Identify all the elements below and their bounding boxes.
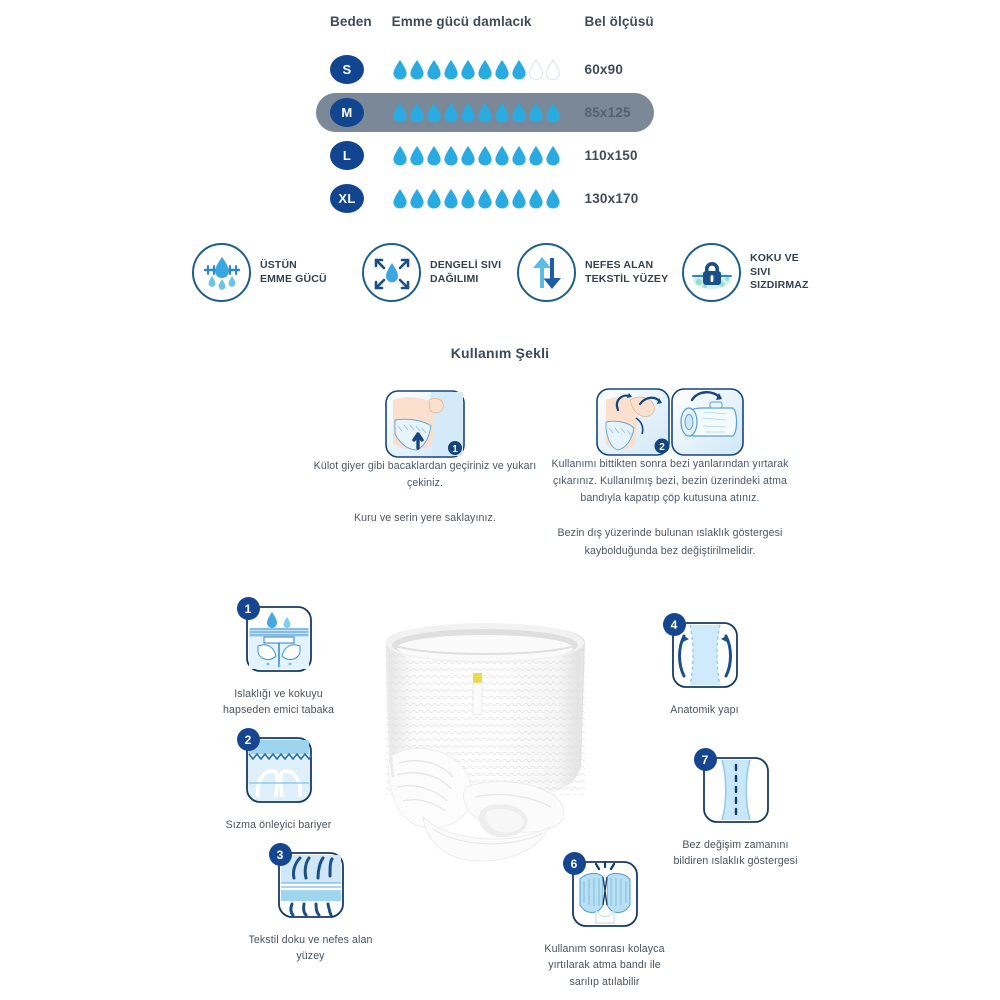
droplet-filled-icon	[409, 188, 425, 209]
droplet-empty-icon	[528, 59, 544, 80]
waist-measurement: 130x170	[585, 191, 670, 206]
usage-step-1-text: Külot giyer gibi bacaklardan geçiriniz v…	[300, 458, 550, 492]
droplet-filled-icon	[426, 59, 442, 80]
droplet-filled-icon	[477, 188, 493, 209]
numbered-feature-4: 4Anatomik yapı	[622, 622, 787, 718]
absorbency-droplets	[392, 59, 581, 80]
droplet-filled-icon	[409, 59, 425, 80]
size-badge-wrap: S	[330, 55, 388, 84]
size-table-body: S60x90M85x125L110x150XL130x170	[330, 48, 670, 220]
size-badge: XL	[330, 184, 364, 213]
leak-barrier-tile: 2	[196, 737, 361, 808]
size-row-m[interactable]: M85x125	[330, 91, 670, 134]
droplet-filled-icon	[460, 102, 476, 123]
feature-number-badge: 3	[269, 843, 292, 866]
droplet-filled-icon	[460, 188, 476, 209]
feature-number-badge: 2	[237, 728, 260, 751]
textile-surface-tile: 3	[228, 852, 393, 923]
size-badge: L	[330, 141, 364, 170]
feature-label: NEFES ALAN TEKSTİL YÜZEY	[585, 259, 668, 286]
absorbency-droplets	[392, 188, 581, 209]
feature-number-badge: 7	[694, 748, 717, 771]
droplet-filled-icon	[477, 145, 493, 166]
feature-label: ÜSTÜN EMME GÜCÜ	[260, 259, 327, 286]
droplet-filled-icon	[545, 102, 561, 123]
numbered-feature-2: 2Sızma önleyici bariyer	[196, 737, 361, 833]
absorbent-core-tile: 1	[196, 606, 361, 677]
absorbency-droplets	[392, 145, 581, 166]
absorbency-droplets	[392, 102, 581, 123]
droplet-empty-icon	[545, 59, 561, 80]
absorbency-drop-icon	[192, 243, 251, 302]
usage-step-2-text-secondary: Bezin dış yüzerinde bulunan ıslaklık gös…	[525, 525, 815, 559]
odor-lock-icon	[682, 243, 741, 302]
droplet-filled-icon	[426, 102, 442, 123]
feature-2: DENGELİ SIVI DAĞILIMI	[362, 243, 517, 302]
numbered-feature-7: 7Bez değişim zamanını bildiren ıslaklık …	[648, 757, 823, 870]
size-row-xl[interactable]: XL130x170	[330, 177, 670, 220]
usage-step-2-text: Kullanımı bittikten sonra bezi yanlarınd…	[525, 456, 815, 507]
droplet-filled-icon	[545, 188, 561, 209]
anatomic-shape-tile: 4	[622, 622, 787, 693]
droplet-filled-icon	[392, 59, 408, 80]
droplet-filled-icon	[426, 188, 442, 209]
product-infographic: Beden Emme gücü damlacık Bel ölçüsü S60x…	[0, 0, 1000, 1000]
droplet-filled-icon	[494, 145, 510, 166]
waist-measurement: 110x150	[585, 148, 670, 163]
feature-badge-row: ÜSTÜN EMME GÜCÜDENGELİ SIVI DAĞILIMINEFE…	[192, 243, 817, 302]
feature-number-badge: 4	[663, 613, 686, 636]
droplet-filled-icon	[443, 102, 459, 123]
usage-section-title: Kullanım Şekli	[0, 345, 1000, 361]
feature-number-badge: 6	[563, 852, 586, 875]
size-table-header: Beden Emme gücü damlacık Bel ölçüsü	[330, 14, 670, 48]
feature-3: NEFES ALAN TEKSTİL YÜZEY	[517, 243, 682, 302]
feature-label: KOKU VE SIVI SIZDIRMAZ	[750, 252, 817, 292]
droplet-filled-icon	[477, 102, 493, 123]
size-table: Beden Emme gücü damlacık Bel ölçüsü S60x…	[330, 14, 670, 220]
feature-4: KOKU VE SIVI SIZDIRMAZ	[682, 243, 817, 302]
droplet-filled-icon	[528, 145, 544, 166]
balanced-distribution-icon	[362, 243, 421, 302]
numbered-feature-3: 3Tekstil doku ve nefes alan yüzey	[228, 852, 393, 965]
numbered-feature-1: 1Islaklığı ve kokuyu hapseden emici taba…	[196, 606, 361, 719]
numbered-feature-label: Sızma önleyici bariyer	[196, 817, 361, 833]
product-image	[363, 617, 608, 867]
waist-measurement: 85x125	[585, 105, 670, 120]
tear-and-roll-illustration: 2	[525, 388, 815, 456]
column-header-absorbency: Emme gücü damlacık	[392, 14, 581, 29]
droplet-filled-icon	[443, 59, 459, 80]
droplet-filled-icon	[460, 59, 476, 80]
droplet-filled-icon	[494, 59, 510, 80]
usage-step-2: 2 Kullanımı bittikten sonra bezi yanları…	[525, 388, 815, 560]
numbered-feature-6: 6Kullanım sonrası kolayca yırtılarak atm…	[512, 861, 697, 990]
tear-and-roll-illustration-svg: 2	[596, 388, 744, 456]
pull-up-illustration-svg: 1	[385, 390, 465, 458]
numbered-feature-label: Tekstil doku ve nefes alan yüzey	[228, 932, 393, 965]
droplet-filled-icon	[545, 145, 561, 166]
droplet-filled-icon	[511, 102, 527, 123]
size-badge-wrap: L	[330, 141, 388, 170]
size-row-s[interactable]: S60x90	[330, 48, 670, 91]
feature-label: DENGELİ SIVI DAĞILIMI	[430, 259, 501, 286]
droplet-filled-icon	[409, 102, 425, 123]
droplet-filled-icon	[392, 102, 408, 123]
droplet-filled-icon	[494, 102, 510, 123]
column-header-size: Beden	[330, 14, 388, 29]
droplet-filled-icon	[392, 188, 408, 209]
droplet-filled-icon	[443, 145, 459, 166]
wetness-indicator-tile: 7	[648, 757, 823, 828]
droplet-filled-icon	[511, 188, 527, 209]
feature-1: ÜSTÜN EMME GÜCÜ	[192, 243, 362, 302]
pull-up-illustration: 1	[300, 390, 550, 458]
droplet-filled-icon	[511, 145, 527, 166]
step-number-1: 1	[452, 444, 458, 455]
tear-away-tile: 6	[512, 861, 697, 932]
droplet-filled-icon	[494, 188, 510, 209]
usage-step-1-text-secondary: Kuru ve serin yere saklayınız.	[300, 510, 550, 527]
usage-step-1: 1 Külot giyer gibi bacaklardan geçiriniz…	[300, 390, 550, 527]
feature-number-badge: 1	[237, 597, 260, 620]
column-header-waist: Bel ölçüsü	[585, 14, 670, 29]
droplet-filled-icon	[460, 145, 476, 166]
size-badge: M	[330, 98, 364, 127]
droplet-filled-icon	[528, 102, 544, 123]
droplet-filled-icon	[392, 145, 408, 166]
breathable-arrows-icon	[517, 243, 576, 302]
waist-measurement: 60x90	[585, 62, 670, 77]
size-badge-wrap: XL	[330, 184, 388, 213]
droplet-filled-icon	[477, 59, 493, 80]
numbered-feature-label: Kullanım sonrası kolayca yırtılarak atma…	[512, 941, 697, 990]
droplet-filled-icon	[511, 59, 527, 80]
droplet-filled-icon	[528, 188, 544, 209]
droplet-filled-icon	[443, 188, 459, 209]
size-badge: S	[330, 55, 364, 84]
step-number-2: 2	[659, 442, 665, 453]
droplet-filled-icon	[426, 145, 442, 166]
numbered-feature-label: Islaklığı ve kokuyu hapseden emici tabak…	[196, 686, 361, 719]
adult-pull-up-diaper-photo	[363, 617, 608, 867]
size-row-l[interactable]: L110x150	[330, 134, 670, 177]
droplet-filled-icon	[409, 145, 425, 166]
numbered-feature-label: Anatomik yapı	[622, 702, 787, 718]
